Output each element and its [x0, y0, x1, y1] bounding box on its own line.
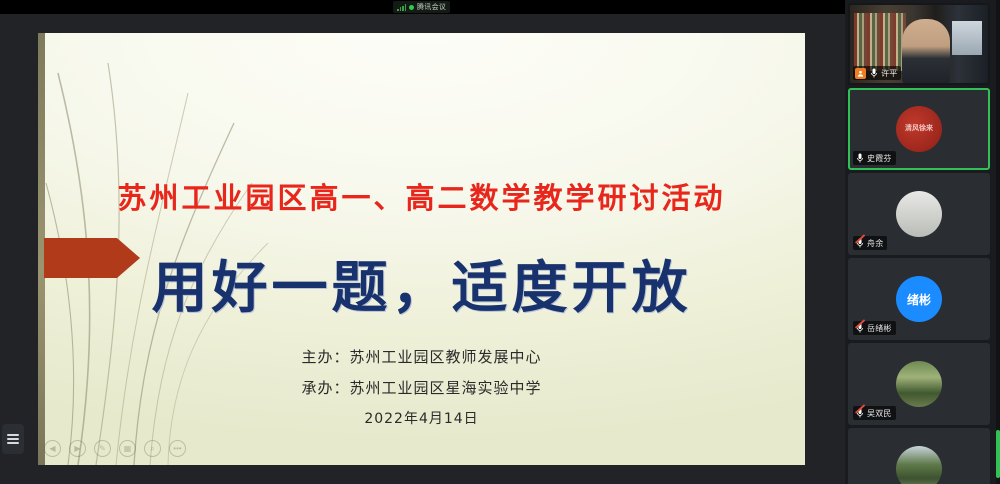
top-status-bar: 腾讯会议	[0, 0, 845, 14]
participant-nameplate: 史霞芬	[853, 151, 896, 165]
slide-date-line: 2022年4月14日	[38, 408, 805, 428]
scrollbar-thumb[interactable]	[996, 430, 1000, 478]
participant-name: 许平	[881, 68, 897, 79]
participant-nameplate: 许平	[853, 66, 901, 80]
slide-main-title: 用好一题，适度开放	[38, 243, 805, 324]
participant-rail[interactable]: 许平 清风徐来 史霞芬	[845, 0, 1000, 484]
microphone-muted-icon	[855, 323, 864, 334]
avatar-text: 清风徐来	[905, 125, 933, 133]
meeting-app-label: 腾讯会议	[417, 2, 446, 12]
participant-scrollbar[interactable]	[996, 0, 1000, 484]
participant-name: 岳绪彬	[867, 323, 892, 334]
participant-nameplate: 舟余	[853, 236, 887, 250]
microphone-muted-icon	[855, 408, 864, 419]
presentation-controls[interactable]: ◀ ▶ ✎ ▦ ⌕ •••	[44, 440, 186, 457]
presentation-slide[interactable]: 苏州工业园区高一、高二数学教学研讨活动 用好一题，适度开放 主办：苏州工业园区教…	[38, 33, 805, 465]
slide-grid-button[interactable]: ▦	[119, 440, 136, 457]
avatar	[896, 446, 942, 484]
meeting-window: 腾讯会议 苏州工业园区高一、高二数学教学研讨活动 用好一题，适度开放 主办：苏州…	[0, 0, 1000, 484]
slide-subtitle-red: 苏州工业园区高一、高二数学教学研讨活动	[38, 175, 805, 217]
participant-name: 吴双民	[867, 408, 892, 419]
pen-tool-button[interactable]: ✎	[94, 440, 111, 457]
avatar: 绪彬	[896, 276, 942, 322]
host-badge-icon	[855, 68, 866, 79]
participant-tile[interactable]: 绪彬 岳绪彬	[848, 258, 990, 340]
participant-tile[interactable]: 舟余	[848, 173, 990, 255]
participant-name: 舟余	[867, 238, 883, 249]
participant-tile[interactable]: 许平	[848, 3, 990, 85]
more-options-button[interactable]: •••	[169, 440, 186, 457]
participant-list-toggle[interactable]	[2, 424, 24, 454]
participant-tile[interactable]	[848, 428, 990, 484]
slide-organizer-line: 主办：苏州工业园区教师发展中心	[38, 346, 805, 367]
microphone-icon	[855, 153, 864, 164]
slide-host-unit-line: 承办：苏州工业园区星海实验中学	[38, 377, 805, 398]
avatar: 清风徐来	[896, 106, 942, 152]
avatar-text: 绪彬	[907, 291, 931, 308]
zoom-button[interactable]: ⌕	[144, 440, 161, 457]
participant-nameplate: 岳绪彬	[853, 321, 896, 335]
participant-name: 史霞芬	[867, 153, 892, 164]
previous-slide-button[interactable]: ◀	[44, 440, 61, 457]
meeting-status-pill[interactable]: 腾讯会议	[393, 1, 450, 13]
participant-tile[interactable]: 清风徐来 史霞芬	[848, 88, 990, 170]
microphone-icon	[869, 68, 878, 79]
participant-nameplate: 吴双民	[853, 406, 896, 420]
signal-bars-icon	[397, 4, 406, 11]
green-status-dot	[409, 5, 414, 10]
list-icon	[7, 432, 19, 446]
next-slide-button[interactable]: ▶	[69, 440, 86, 457]
avatar	[896, 191, 942, 237]
microphone-muted-icon	[855, 238, 864, 249]
participant-tile[interactable]: 吴双民	[848, 343, 990, 425]
shared-screen-stage: 苏州工业园区高一、高二数学教学研讨活动 用好一题，适度开放 主办：苏州工业园区教…	[0, 14, 845, 484]
avatar	[896, 361, 942, 407]
